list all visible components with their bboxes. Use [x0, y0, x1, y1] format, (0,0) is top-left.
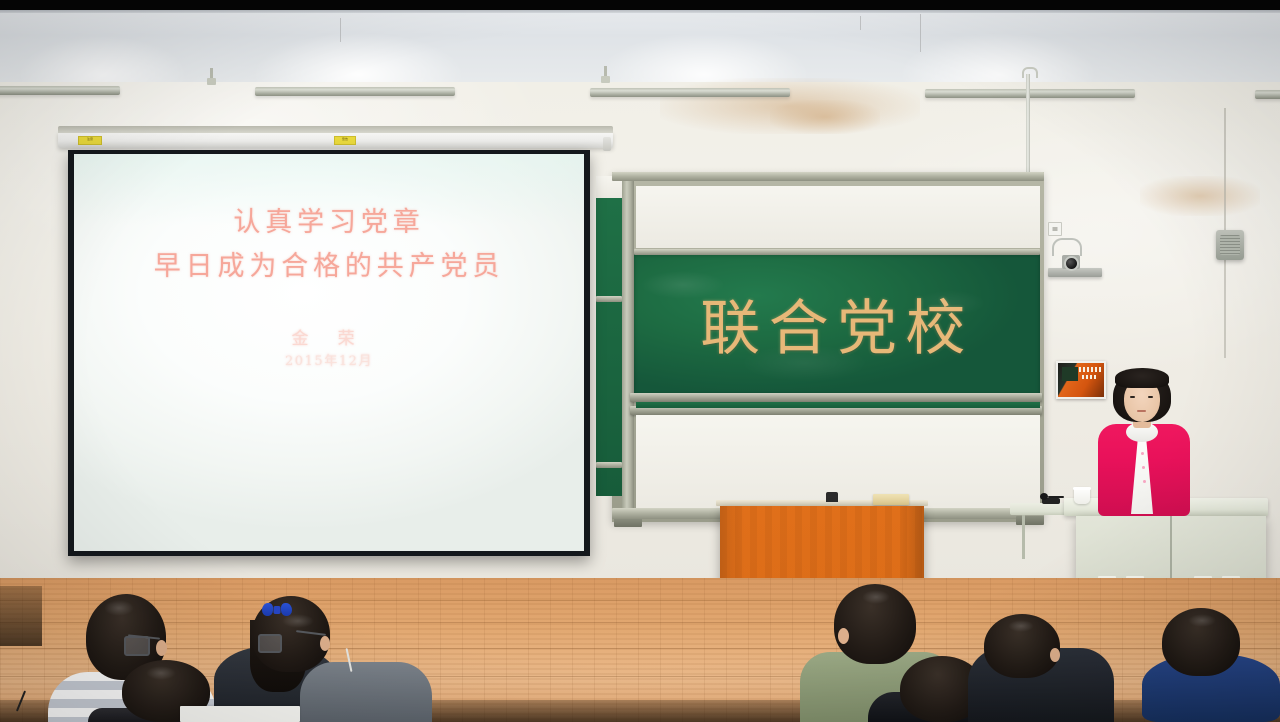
student-navy-hoodie-hair-highlight — [1188, 614, 1216, 627]
ceiling-seam — [0, 10, 1280, 13]
blackboard-frame-post — [622, 174, 634, 522]
student-striped-shirt-ear — [156, 640, 167, 656]
blackboard-side-panel — [596, 196, 622, 496]
blackboard-side-rail-bot — [596, 462, 622, 468]
light-valance-5 — [1255, 90, 1280, 99]
student-olive-jacket-hair-highlight — [862, 590, 890, 604]
screen-case-endcap — [603, 137, 611, 151]
blackboard-upper-panel — [636, 186, 1040, 248]
presenter-eye-left — [1130, 396, 1135, 398]
screen-case-label-mid: 警告 — [334, 136, 356, 145]
student-blue-bow-glasses-lens — [258, 634, 282, 653]
presenter-button-1 — [1141, 452, 1144, 455]
student-olive-jacket-ear — [838, 628, 849, 644]
presenter-button-2 — [1142, 466, 1145, 469]
chalkboard: 联合党校 — [634, 254, 1040, 394]
slide-title-line-2: 早日成为合格的共产党员 — [74, 244, 584, 283]
ceiling-hook-1 — [210, 68, 213, 80]
classroom-photo-scene: 联合党校 注意 警告 认真学习党章 早日成为合格的共产党员 金 荣 2015年1… — [0, 0, 1280, 722]
student-blue-bow-ear — [320, 636, 330, 651]
paper-cup[interactable] — [1074, 487, 1090, 504]
lectern-shelf-leg — [1022, 515, 1025, 559]
light-valance-4 — [925, 89, 1135, 98]
ceiling-crack-3 — [920, 14, 921, 52]
ceiling-crack-1 — [340, 18, 341, 42]
chalkboard-lower-strip — [636, 402, 1040, 408]
wall-speaker — [1216, 230, 1244, 260]
floor-plank-2 — [0, 622, 1280, 623]
screen-case-top-rail — [58, 126, 613, 133]
floor-left-edge — [0, 586, 42, 646]
microphone-head — [1040, 493, 1048, 500]
student-black-jacket-hair-highlight — [1008, 620, 1034, 632]
student-gray-sweater-notebook[interactable] — [180, 706, 300, 722]
podium-chalk-box[interactable] — [873, 494, 909, 505]
student-black-jacket-ear — [1050, 648, 1060, 662]
projector-screen-surface: 认真学习党章 早日成为合格的共产党员 金 荣 2015年12月 — [74, 154, 584, 551]
ceiling-crack-2 — [860, 16, 861, 30]
ceiling — [0, 10, 1280, 82]
slide-author: 金 荣 — [74, 324, 584, 349]
slide-date: 2015年12月 — [74, 350, 584, 369]
blackboard-post-foot — [614, 518, 642, 527]
ceiling-hook-2 — [604, 66, 607, 78]
blackboard-top-rail — [612, 172, 1044, 181]
blackboard-lower-panel — [636, 415, 1040, 508]
poster-image — [1058, 363, 1104, 397]
student-striped-shirt-hair-highlight — [104, 600, 134, 616]
slide-title-line-1: 认真学习党章 — [74, 200, 584, 239]
light-valance-3 — [590, 88, 790, 97]
screen-case-label-left: 注意 — [78, 136, 102, 145]
camera-lens — [1064, 256, 1079, 271]
presenter-bangs — [1115, 368, 1169, 388]
projector-screen-frame: 认真学习党章 早日成为合格的共产党员 金 荣 2015年12月 — [68, 150, 590, 556]
chalk-tray-upper — [630, 393, 1042, 402]
projector-screen-case[interactable]: 注意 警告 — [58, 132, 613, 148]
letterbox-top — [0, 0, 1280, 10]
microphone-arm — [1048, 496, 1064, 498]
poster-text-marks-2 — [1082, 375, 1096, 379]
light-valance-1 — [0, 86, 120, 95]
poster-text-marks-1 — [1075, 367, 1101, 372]
student-gray-sweater-torso — [300, 662, 432, 722]
framed-poster — [1056, 361, 1106, 399]
ceiling-pole — [1026, 74, 1030, 186]
chalkboard-top-rail — [634, 249, 1040, 255]
student-front-left-hair-highlight — [146, 666, 176, 680]
student-striped-shirt-glasses-lens — [124, 636, 150, 656]
presenter-mouth — [1137, 410, 1146, 412]
student-blue-bow-hair-bow — [262, 603, 292, 617]
presenter-button-3 — [1143, 480, 1146, 483]
camera-mount-arm — [1052, 238, 1082, 256]
presenter-eye-right — [1148, 396, 1153, 398]
blackboard-side-rail-top — [596, 296, 622, 302]
light-valance-2 — [255, 87, 455, 96]
podium-dark-device[interactable] — [826, 492, 838, 502]
chalkboard-headline: 联合党校 — [634, 280, 1040, 367]
student-blue-bow-knot — [274, 606, 281, 614]
wall-socket[interactable] — [1048, 222, 1062, 236]
floor-plank-1 — [0, 600, 1280, 601]
blackboard-foot-right — [1016, 516, 1044, 525]
